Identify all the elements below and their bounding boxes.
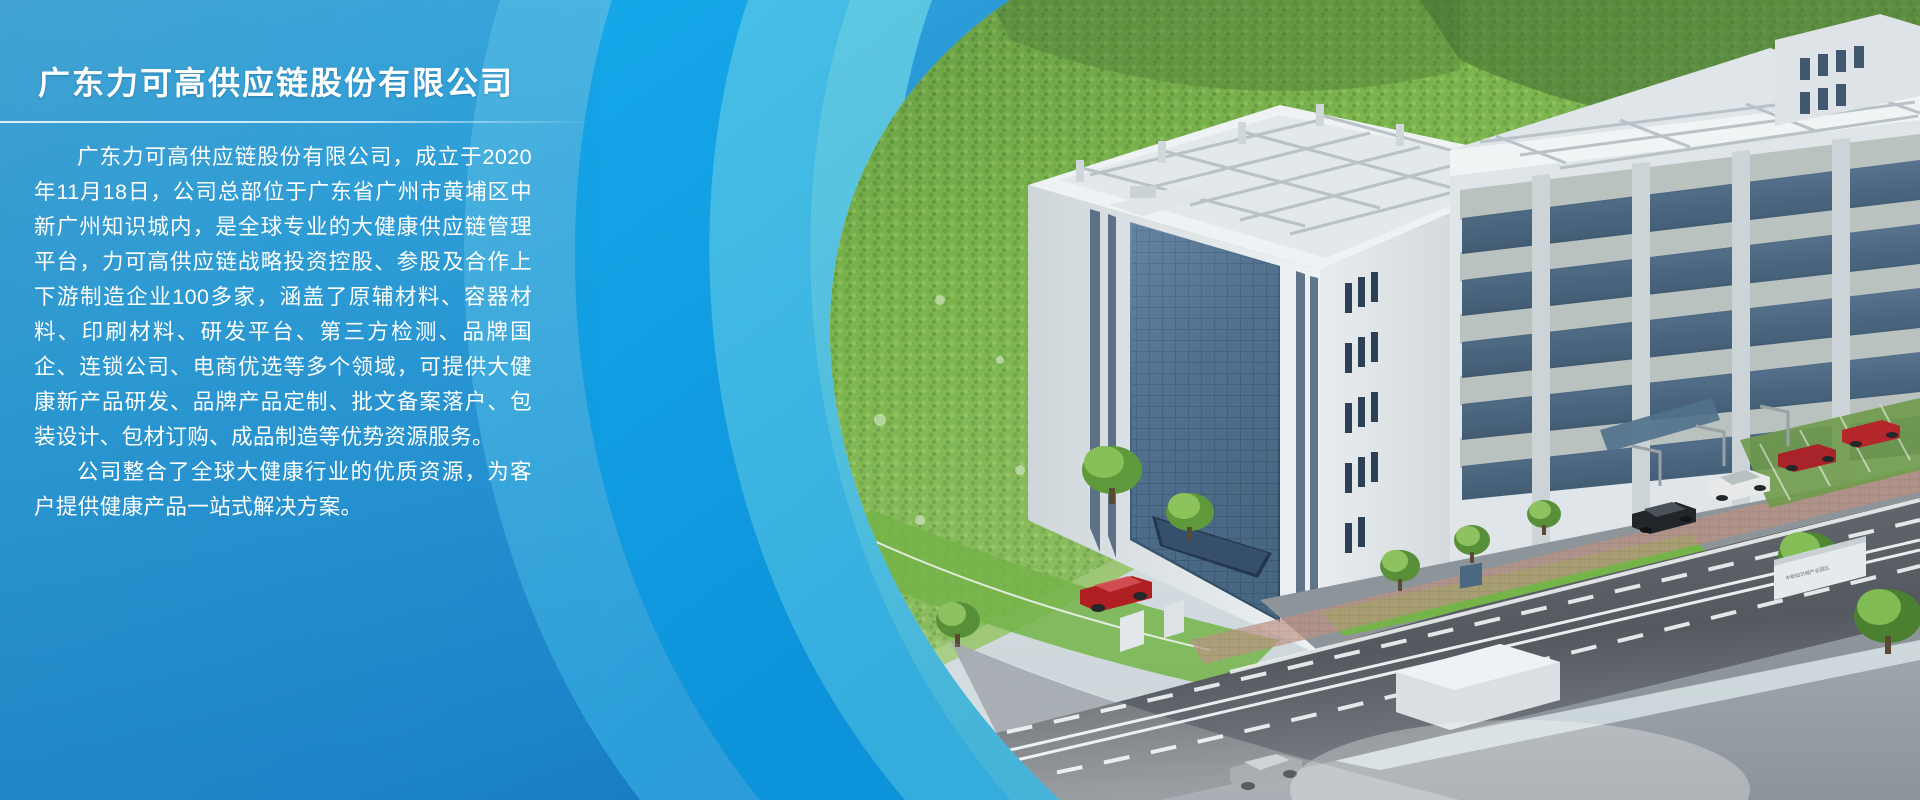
- intro-paragraph-2: 公司整合了全球大健康行业的优质资源，为客户提供健康产品一站式解决方案。: [34, 455, 532, 525]
- banner-canvas: 中新知识城产业园区 广东力可高供应链股份有限公司 广东力可高供应链股份有限公司，…: [0, 0, 1920, 800]
- page-title: 广东力可高供应链股份有限公司: [34, 0, 532, 104]
- intro-text-column: 广东力可高供应链股份有限公司 广东力可高供应链股份有限公司，成立于2020年11…: [0, 0, 560, 800]
- intro-paragraph-1: 广东力可高供应链股份有限公司，成立于2020年11月18日，公司总部位于广东省广…: [34, 140, 532, 455]
- title-divider: [0, 121, 594, 123]
- intro-body: 广东力可高供应链股份有限公司，成立于2020年11月18日，公司总部位于广东省广…: [34, 140, 532, 525]
